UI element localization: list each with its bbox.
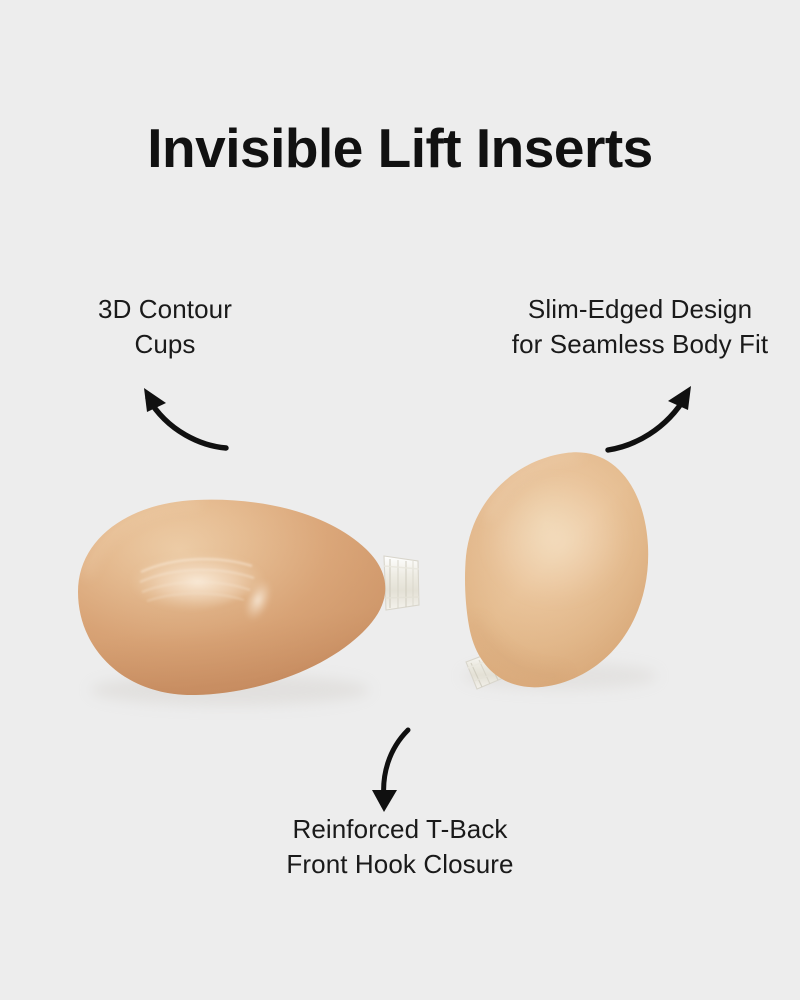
annotation-slim-edge: Slim-Edged Design for Seamless Body Fit — [480, 292, 800, 361]
annotation-contour-cups-line2: Cups — [20, 327, 310, 362]
annotation-t-back-closure-line1: Reinforced T-Back — [210, 812, 590, 847]
annotation-t-back-closure: Reinforced T-Back Front Hook Closure — [210, 812, 590, 881]
annotation-slim-edge-line1: Slim-Edged Design — [480, 292, 800, 327]
infographic-canvas: Invisible Lift Inserts — [0, 0, 800, 1000]
annotation-contour-cups: 3D Contour Cups — [20, 292, 310, 361]
curved-arrow-up-left-icon — [118, 372, 238, 472]
right-cup — [462, 452, 658, 690]
annotation-slim-edge-line2: for Seamless Body Fit — [480, 327, 800, 362]
right-cup-highlight — [486, 478, 626, 602]
curved-arrow-up-right-icon — [598, 372, 718, 472]
curved-arrow-down-icon — [352, 722, 452, 822]
left-cup-hook-clasp — [384, 556, 419, 610]
annotation-t-back-closure-line2: Front Hook Closure — [210, 847, 590, 882]
annotation-contour-cups-line1: 3D Contour — [20, 292, 310, 327]
left-cup — [78, 500, 419, 706]
